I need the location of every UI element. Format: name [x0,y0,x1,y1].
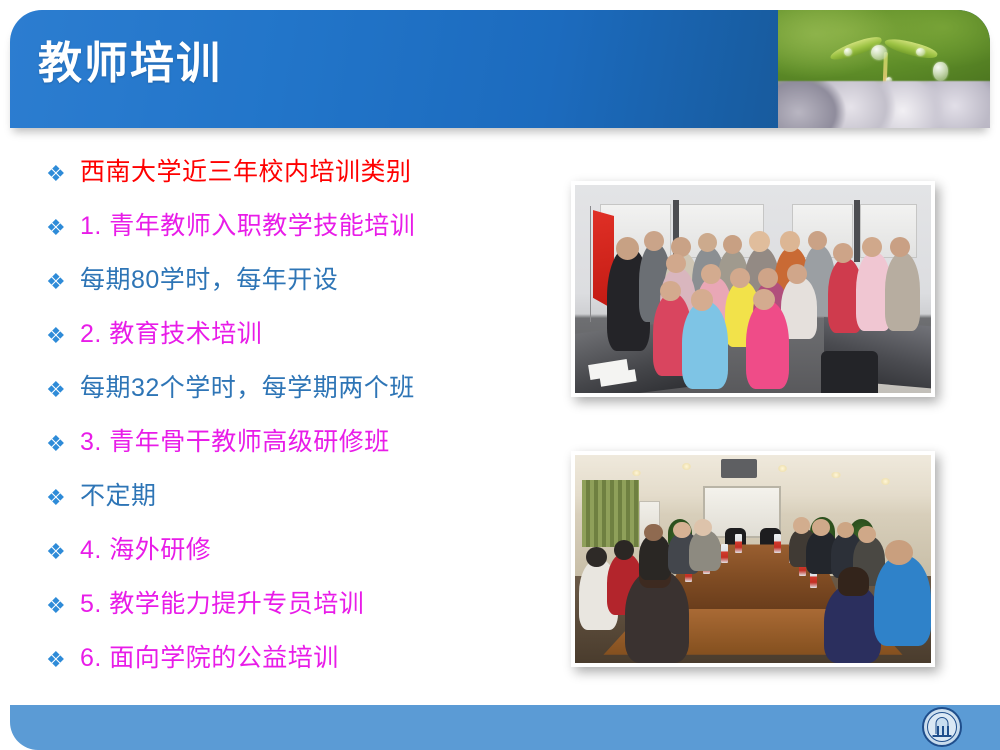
person-head [586,547,607,568]
person-head [666,254,686,274]
list-item: ❖ 4. 海外研修 [46,533,566,587]
person [689,530,721,572]
list-item-label: 1. 青年教师入职教学技能培训 [80,209,566,243]
ceiling-light [682,463,691,470]
person-head [838,567,869,596]
person-head [780,231,801,252]
person-head [890,237,910,257]
window-curtain [582,480,639,547]
water-bottle [735,534,742,553]
list-item-label: 不定期 [80,479,566,513]
list-item: ❖ 2. 教育技术培训 [46,317,566,371]
seal-column [937,726,939,735]
person [682,301,728,388]
seal-column [942,726,944,735]
bullet-list: ❖ 西南大学近三年校内培训类别 ❖ 1. 青年教师入职教学技能培训 ❖ 每期80… [46,155,566,695]
person [885,252,921,331]
list-item: ❖ 不定期 [46,479,566,533]
list-item: ❖ 1. 青年教师入职教学技能培训 [46,209,566,263]
person-head [644,231,664,251]
person [746,301,789,388]
office-chair [821,351,878,393]
list-item: ❖ 每期32个学时，每学期两个班 [46,371,566,425]
list-item-label: 6. 面向学院的公益培训 [80,641,566,675]
sprout-dew-photo [778,10,990,128]
university-seal-logo [922,707,962,747]
list-item: ❖ 西南大学近三年校内培训类别 [46,155,566,209]
diamond-bullet-icon: ❖ [46,209,80,245]
list-item-label: 3. 青年骨干教师高级研修班 [80,425,566,459]
water-bottle [721,544,728,563]
list-item-label: 4. 海外研修 [80,533,566,567]
diamond-bullet-icon: ❖ [46,533,80,569]
person-head [723,235,742,254]
slide-header-bar: 教师培训 [10,10,990,128]
flag-pole [590,206,591,322]
conference-meeting-photo [571,451,935,667]
diamond-bullet-icon: ❖ [46,371,80,407]
person-head [730,268,750,288]
list-item: ❖ 6. 面向学院的公益培训 [46,641,566,695]
list-item-label: 每期80学时，每年开设 [80,263,566,297]
conference-meeting-photo-content [575,455,931,663]
list-item: ❖ 5. 教学能力提升专员培训 [46,587,566,641]
seal-column [947,726,949,735]
person-head [812,519,830,536]
dew-drop [844,48,852,56]
sprout-pebbles [778,81,990,128]
person [874,555,931,647]
diamond-bullet-icon: ❖ [46,155,80,191]
person-head [862,237,882,257]
list-item-label: 2. 教育技术培训 [80,317,566,351]
person-head [614,540,634,560]
diamond-bullet-icon: ❖ [46,263,80,299]
dew-drop [933,62,948,81]
page-title: 教师培训 [38,36,222,91]
list-item-label: 西南大学近三年校内培训类别 [80,155,566,189]
ceiling-projector [721,459,757,478]
diamond-bullet-icon: ❖ [46,587,80,623]
seal-base-bar [933,735,952,737]
list-item-label: 每期32个学时，每学期两个班 [80,371,566,405]
ceiling-light [881,478,890,485]
person-head [698,233,717,252]
wall-divider [854,200,860,262]
person-head [691,289,714,311]
diamond-bullet-icon: ❖ [46,317,80,353]
diamond-bullet-icon: ❖ [46,641,80,677]
seal-ring [927,712,957,742]
list-item-label: 5. 教学能力提升专员培训 [80,587,566,621]
slide-footer-bar [10,705,1000,750]
list-item: ❖ 3. 青年骨干教师高级研修班 [46,425,566,479]
person-head [749,231,770,252]
person-head [858,526,876,543]
person-head [644,524,663,542]
person-head [833,243,853,263]
person-head [673,522,691,539]
person-head [701,264,721,284]
diamond-bullet-icon: ❖ [46,425,80,461]
group-training-photo-content [575,185,931,393]
person-head [787,264,807,284]
ceiling-light [831,472,840,479]
diamond-bullet-icon: ❖ [46,479,80,515]
presentation-slide: 教师培训 ❖ 西南大学近三年校内培训类别 ❖ 1. 青年教师入职教学技能培训 ❖ [0,0,1000,750]
list-item: ❖ 每期80学时，每年开设 [46,263,566,317]
person-head [616,237,639,260]
water-bottle [774,534,781,553]
group-training-photo [571,181,935,397]
whiteboard [678,204,763,258]
dew-drop [916,48,925,56]
